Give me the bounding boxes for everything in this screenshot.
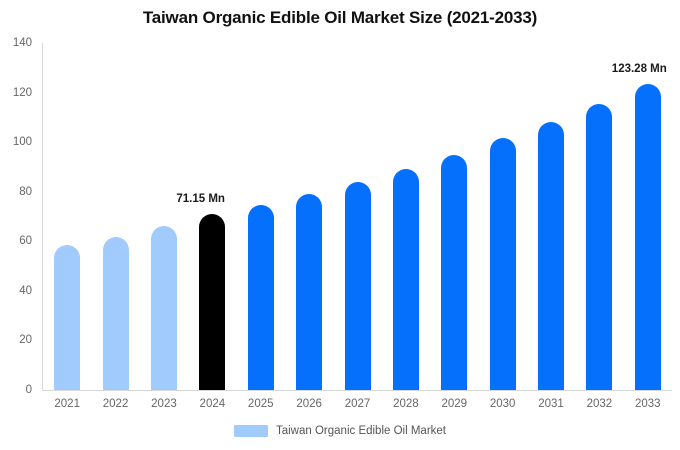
bar[interactable] <box>538 122 564 390</box>
x-tick-label: 2022 <box>89 398 143 410</box>
bar[interactable] <box>54 245 80 390</box>
chart-legend: Taiwan Organic Edible Oil Market <box>0 425 680 437</box>
y-tick-label: 20 <box>0 334 32 346</box>
bar[interactable] <box>103 237 129 390</box>
x-tick-label: 2030 <box>476 398 530 410</box>
bar[interactable] <box>441 155 467 390</box>
x-tick-label: 2024 <box>185 398 239 410</box>
bar[interactable] <box>635 84 661 390</box>
x-tick-label: 2029 <box>427 398 481 410</box>
bar[interactable] <box>490 138 516 390</box>
bar[interactable] <box>151 226 177 390</box>
x-tick-label: 2021 <box>40 398 94 410</box>
x-tick-label: 2028 <box>379 398 433 410</box>
y-tick-label: 60 <box>0 235 32 247</box>
x-tick-label: 2031 <box>524 398 578 410</box>
y-tick-label: 40 <box>0 285 32 297</box>
y-tick-label: 140 <box>0 37 32 49</box>
bar-chart: Taiwan Organic Edible Oil Market Size (2… <box>0 0 680 450</box>
bar[interactable] <box>296 194 322 390</box>
x-axis-line <box>42 390 672 391</box>
plot-area <box>43 43 672 390</box>
legend-swatch-icon <box>234 425 268 437</box>
bar[interactable] <box>393 169 419 390</box>
x-tick-label: 2026 <box>282 398 336 410</box>
x-tick-label: 2027 <box>331 398 385 410</box>
bar[interactable] <box>586 104 612 390</box>
bar[interactable] <box>345 182 371 390</box>
bar-value-label: 123.28 Mn <box>612 63 667 75</box>
x-tick-label: 2033 <box>621 398 675 410</box>
y-tick-label: 80 <box>0 186 32 198</box>
chart-title: Taiwan Organic Edible Oil Market Size (2… <box>0 8 680 28</box>
bar[interactable] <box>199 214 225 390</box>
y-tick-label: 120 <box>0 87 32 99</box>
x-tick-label: 2032 <box>572 398 626 410</box>
y-tick-label: 100 <box>0 136 32 148</box>
x-tick-label: 2023 <box>137 398 191 410</box>
legend-label: Taiwan Organic Edible Oil Market <box>276 425 446 437</box>
x-tick-label: 2025 <box>234 398 288 410</box>
bar-value-label: 71.15 Mn <box>176 193 225 205</box>
y-tick-label: 0 <box>0 384 32 396</box>
bar[interactable] <box>248 205 274 390</box>
